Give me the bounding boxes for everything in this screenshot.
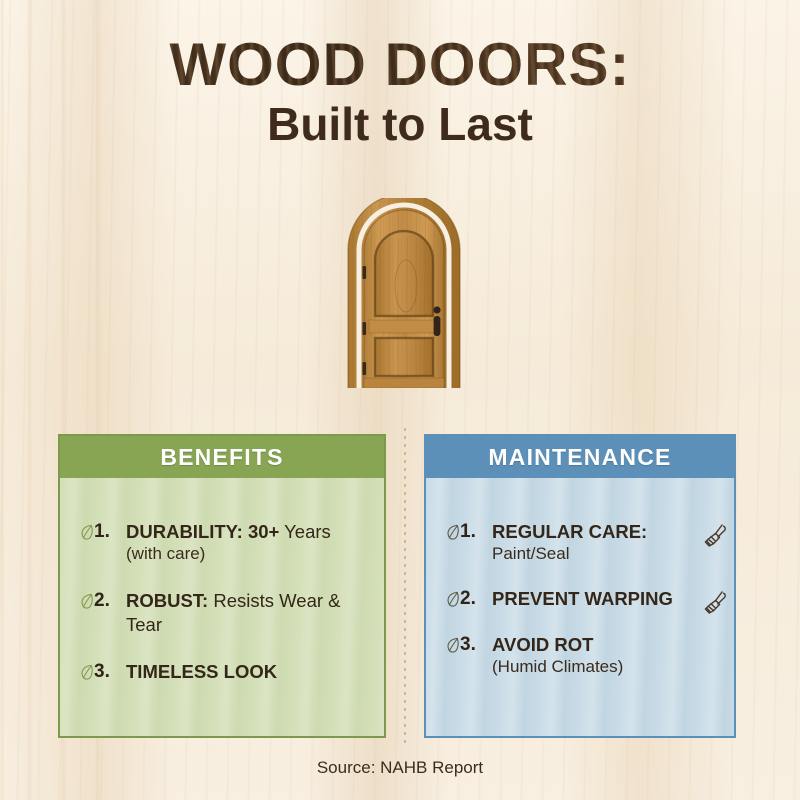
list-item-number: 3. [94, 660, 126, 684]
list-item-strong: REGULAR CARE: [492, 521, 647, 542]
list-item-subtext: (Humid Climates) [492, 656, 726, 678]
list-item: 2. PREVENT WARPING [426, 587, 734, 611]
leaf-icon [80, 524, 93, 541]
list-item-text: TIMELESS LOOK [126, 660, 376, 683]
poster-title-block: WOOD DOORS: Built to Last [0, 34, 800, 150]
list-item-strong: AVOID ROT [492, 634, 593, 655]
list-item-text: PREVENT WARPING [492, 587, 726, 610]
list-item-subtext: (with care) [126, 543, 376, 565]
maintenance-panel: MAINTENANCE 1. REGULAR CARE: Paint/Seal [424, 434, 736, 738]
panel-divider [404, 428, 406, 744]
paintbrush-icon [700, 589, 730, 619]
maintenance-panel-header: MAINTENANCE [426, 436, 734, 478]
page-subtitle: Built to Last [0, 99, 800, 150]
list-item-text: REGULAR CARE: Paint/Seal [492, 520, 726, 565]
list-item-strong: PREVENT WARPING [492, 588, 673, 609]
benefits-panel-header: BENEFITS [60, 436, 384, 478]
source-caption: Source: NAHB Report [0, 758, 800, 778]
list-item: 2. ROBUST: Resists Wear & Tear [60, 589, 384, 636]
list-item-text: DURABILITY: 30+ Years (with care) [126, 520, 376, 565]
list-item-text: AVOID ROT (Humid Climates) [492, 633, 726, 678]
door-handle-icon [433, 306, 440, 336]
maintenance-panel-body: 1. REGULAR CARE: Paint/Seal [426, 478, 734, 736]
leaf-icon [80, 593, 93, 610]
list-item: 3. AVOID ROT (Humid Climates) [426, 633, 734, 678]
list-item: 3. TIMELESS LOOK [60, 660, 384, 684]
infographic-poster: WOOD DOORS: Built to Last [0, 0, 800, 800]
paintbrush-icon [700, 522, 730, 552]
leaf-icon [446, 591, 459, 608]
leaf-icon [446, 524, 459, 541]
list-item-strong: DURABILITY: 30+ [126, 521, 279, 542]
list-item-number: 2. [460, 587, 492, 611]
wood-door-illustration [342, 198, 466, 388]
list-item: 1. REGULAR CARE: Paint/Seal [426, 520, 734, 565]
list-item-number: 1. [94, 520, 126, 544]
list-item-strong: TIMELESS LOOK [126, 661, 277, 682]
list-item-subtext: Paint/Seal [492, 543, 726, 565]
leaf-icon [446, 637, 459, 654]
list-item-number: 2. [94, 589, 126, 613]
list-item-number: 1. [460, 520, 492, 544]
benefits-panel-body: 1. DURABILITY: 30+ Years (with care) 2. … [60, 478, 384, 736]
benefits-panel: BENEFITS 1. DURABILITY: 30+ Years (with … [58, 434, 386, 738]
list-item-text: ROBUST: Resists Wear & Tear [126, 589, 376, 636]
list-item-rest: Years [279, 521, 330, 542]
list-item-strong: ROBUST: [126, 590, 208, 611]
list-item-number: 3. [460, 633, 492, 657]
page-title: WOOD DOORS: [0, 34, 800, 95]
leaf-icon [80, 664, 93, 681]
list-item: 1. DURABILITY: 30+ Years (with care) [60, 520, 384, 565]
